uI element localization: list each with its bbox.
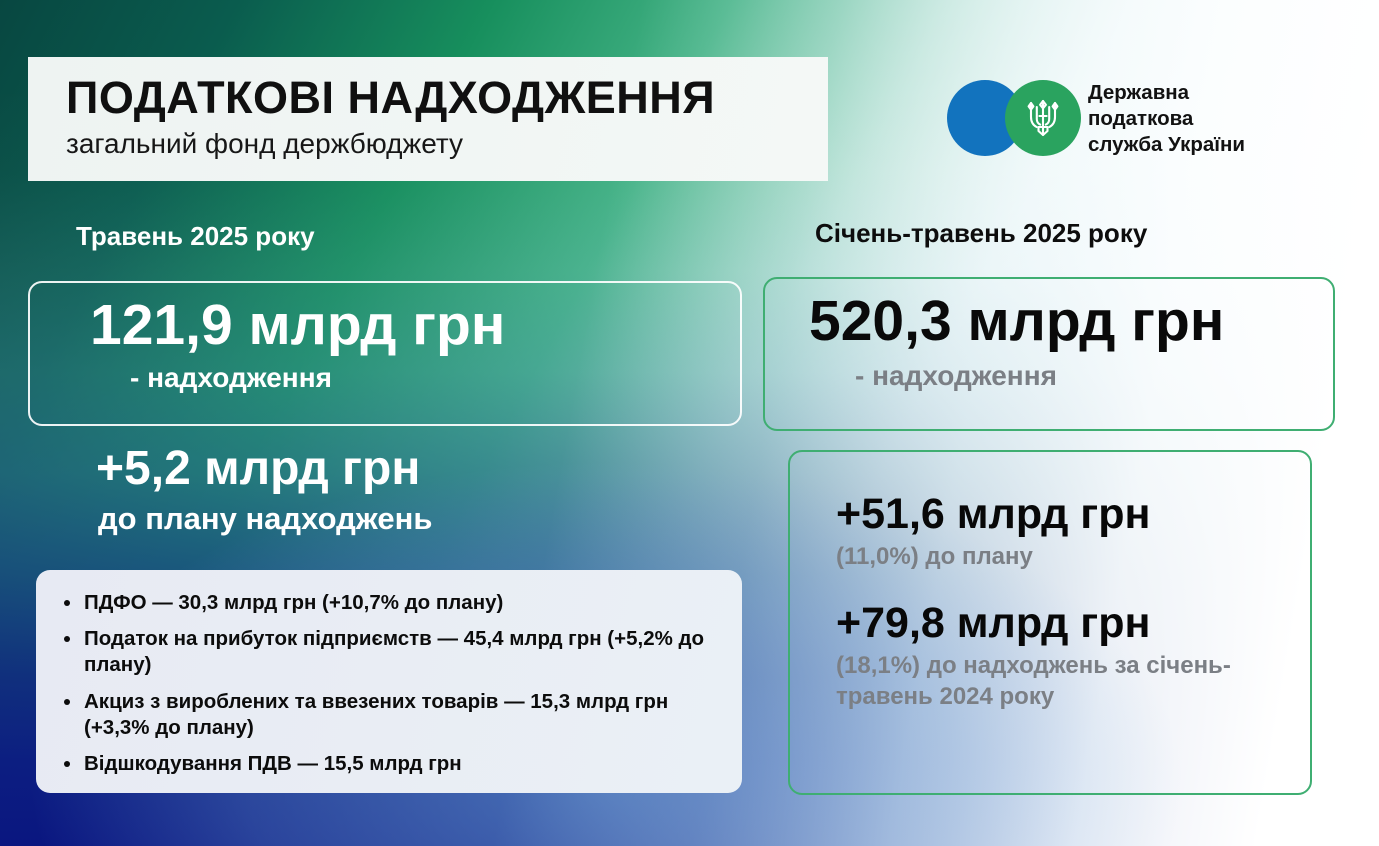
stat-row: +51,6 млрд грн (11,0%) до плану (790, 490, 1310, 573)
list-item: ПДФО — 30,3 млрд грн (+10,7% до плану) (58, 590, 728, 616)
list-item: Акциз з вироблених та ввезених товарів —… (58, 689, 728, 741)
logo-green-circle-icon (1005, 80, 1081, 156)
organization-logo: Державна податкова служба України (947, 80, 1245, 158)
stat-note-yoy: (18,1%) до надходжень за січень-травень … (790, 651, 1306, 712)
logo-marks (947, 80, 1082, 158)
title-box: ПОДАТКОВІ НАДХОДЖЕННЯ загальний фонд дер… (28, 57, 828, 181)
logo-text-line3: служба України (1088, 132, 1245, 158)
right-main-label: - надходження (765, 359, 1333, 393)
left-plan-caption: до плану надходжень (28, 500, 742, 537)
left-main-amount: 121,9 млрд грн (30, 295, 740, 357)
page-subtitle: загальний фонд держбюджету (66, 127, 828, 161)
list-item: Податок на прибуток підприємств — 45,4 м… (58, 626, 728, 678)
stat-note-plan: (11,0%) до плану (790, 542, 1306, 573)
right-stats-card: +51,6 млрд грн (11,0%) до плану +79,8 мл… (788, 450, 1312, 795)
left-plan-block: +5,2 млрд грн до плану надходжень (28, 442, 742, 537)
right-main-amount: 520,3 млрд грн (765, 291, 1333, 353)
left-main-metric-card: 121,9 млрд грн - надходження (28, 281, 742, 426)
right-period-caption: Січень-травень 2025 року (815, 218, 1147, 249)
stat-row: +79,8 млрд грн (18,1%) до надходжень за … (790, 599, 1310, 713)
breakdown-list: ПДФО — 30,3 млрд грн (+10,7% до плану) П… (58, 590, 728, 777)
stat-amount-yoy: +79,8 млрд грн (790, 599, 1310, 647)
logo-text-line2: податкова (1088, 106, 1245, 132)
list-item: Відшкодування ПДВ — 15,5 млрд грн (58, 751, 728, 777)
logo-text: Державна податкова служба України (1088, 80, 1245, 157)
left-period-caption: Травень 2025 року (76, 221, 315, 252)
right-main-metric-card: 520,3 млрд грн - надходження (763, 277, 1335, 431)
infographic-root: ПОДАТКОВІ НАДХОДЖЕННЯ загальний фонд дер… (0, 0, 1379, 846)
left-breakdown-panel: ПДФО — 30,3 млрд грн (+10,7% до плану) П… (36, 570, 742, 793)
tryzub-icon (1023, 94, 1063, 142)
left-plan-amount: +5,2 млрд грн (28, 442, 742, 496)
left-main-label: - надходження (30, 361, 740, 395)
page-title: ПОДАТКОВІ НАДХОДЖЕННЯ (66, 73, 828, 123)
stat-amount-plan: +51,6 млрд грн (790, 490, 1310, 538)
logo-text-line1: Державна (1088, 80, 1245, 106)
